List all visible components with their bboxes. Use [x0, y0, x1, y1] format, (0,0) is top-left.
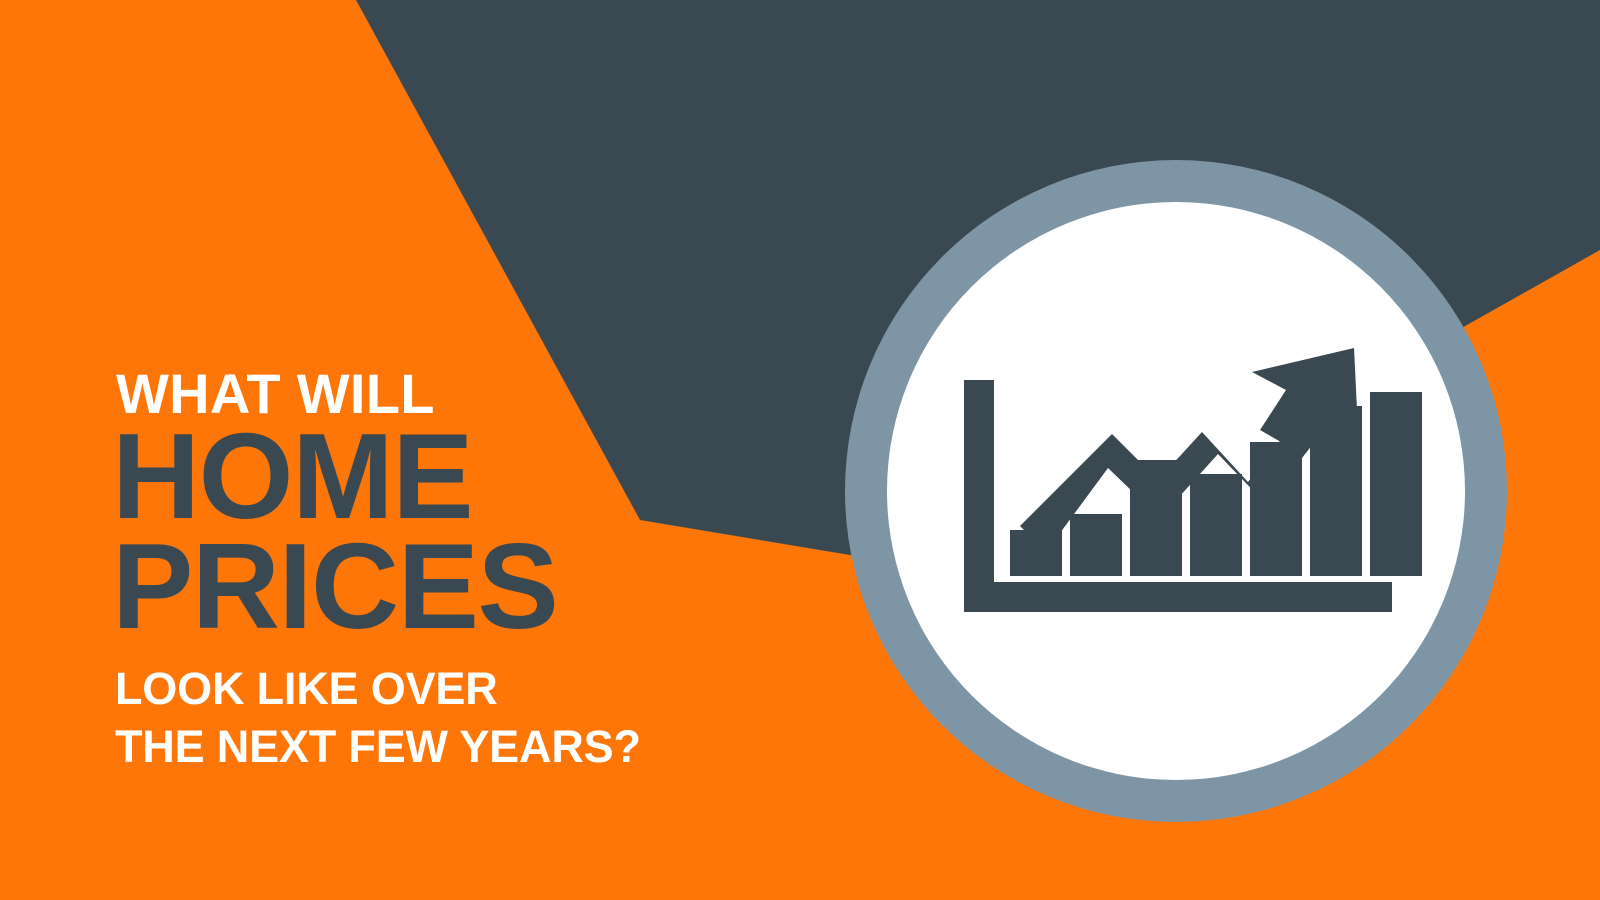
rising-bar-chart-icon — [930, 330, 1410, 630]
poster-canvas: WHAT WILL HOME PRICES LOOK LIKE OVER THE… — [0, 0, 1600, 900]
headline-line-3: PRICES — [112, 536, 872, 637]
headline-line-2: HOME — [112, 426, 872, 527]
headline-line-5: THE NEXT FEW YEARS? — [115, 718, 872, 776]
headline-line-4: LOOK LIKE OVER — [115, 660, 872, 718]
headline-block: WHAT WILL HOME PRICES LOOK LIKE OVER THE… — [112, 362, 872, 776]
chart-bar-7 — [1370, 392, 1422, 576]
chart-bar-2 — [1070, 514, 1122, 576]
chart-bar-4 — [1190, 474, 1242, 576]
